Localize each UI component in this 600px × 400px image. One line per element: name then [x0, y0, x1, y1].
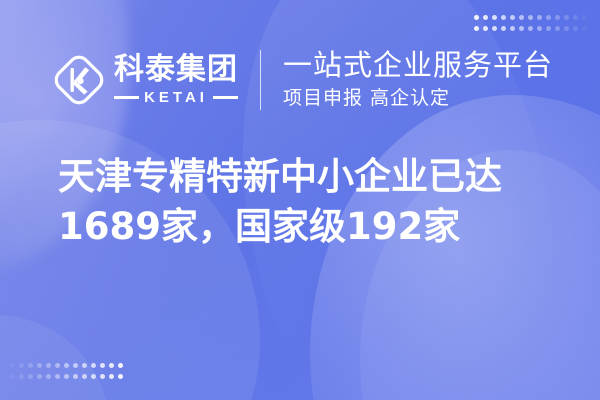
dot [64, 363, 69, 368]
dot [555, 15, 560, 20]
dot [492, 15, 497, 20]
dot [474, 26, 479, 31]
tagline-sub: 项目申报 高企认定 [283, 86, 553, 111]
dot [564, 26, 569, 31]
wordmark-rule-left [114, 96, 139, 99]
ketai-diamond-logo-icon [52, 53, 106, 107]
dot [528, 15, 533, 20]
dot [73, 363, 78, 368]
dot [46, 363, 51, 368]
dot [82, 374, 87, 379]
dot [109, 363, 114, 368]
wordmark-rule-right [213, 96, 238, 99]
dot [537, 15, 542, 20]
dot [573, 26, 578, 31]
dot [118, 374, 123, 379]
tagline-block: 一站式企业服务平台 项目申报 高企认定 [283, 49, 553, 110]
dot [55, 374, 60, 379]
dot [10, 374, 15, 379]
brand-name-en-row: KETAI [114, 90, 238, 105]
dot [10, 363, 15, 368]
dot [100, 363, 105, 368]
dot [546, 15, 551, 20]
dot [537, 26, 542, 31]
dot [73, 374, 78, 379]
dot [519, 26, 524, 31]
dot-grid-icon-top-right [472, 13, 588, 32]
dot [91, 374, 96, 379]
dot [118, 363, 123, 368]
page-title: 天津专精特新中小企业已达1689家，国家级192家 [58, 152, 558, 252]
dot [483, 26, 488, 31]
dot [501, 15, 506, 20]
header-divider [260, 50, 261, 110]
dot [46, 374, 51, 379]
dot [82, 363, 87, 368]
brand-wordmark: 科泰集团 KETAI [114, 55, 238, 105]
tagline-main: 一站式企业服务平台 [283, 49, 553, 81]
dot [528, 26, 533, 31]
dot [37, 374, 42, 379]
dot [573, 15, 578, 20]
banner-header: 科泰集团 KETAI 一站式企业服务平台 项目申报 高企认定 [0, 44, 600, 116]
dot [19, 363, 24, 368]
dot [64, 374, 69, 379]
brand-name-en: KETAI [139, 90, 213, 105]
dot-grid-icon-bottom-left [8, 361, 124, 380]
dot [510, 26, 515, 31]
dot [37, 363, 42, 368]
dot [28, 363, 33, 368]
brand-logo[interactable]: 科泰集团 KETAI [52, 53, 238, 107]
dot [55, 363, 60, 368]
dot [492, 26, 497, 31]
promo-banner: 科泰集团 KETAI 一站式企业服务平台 项目申报 高企认定 天津专精特新中小企… [0, 0, 600, 400]
dot [555, 26, 560, 31]
brand-name-cn: 科泰集团 [114, 55, 238, 85]
dot [109, 374, 114, 379]
dot [91, 363, 96, 368]
dot [501, 26, 506, 31]
dot [474, 15, 479, 20]
decorative-blob-bottom-left-small [0, 315, 110, 400]
dot [582, 26, 587, 31]
dot [582, 15, 587, 20]
dot [483, 15, 488, 20]
dot [510, 15, 515, 20]
dot [100, 374, 105, 379]
dot [19, 374, 24, 379]
dot [519, 15, 524, 20]
dot [546, 26, 551, 31]
dot [28, 374, 33, 379]
dot [564, 15, 569, 20]
